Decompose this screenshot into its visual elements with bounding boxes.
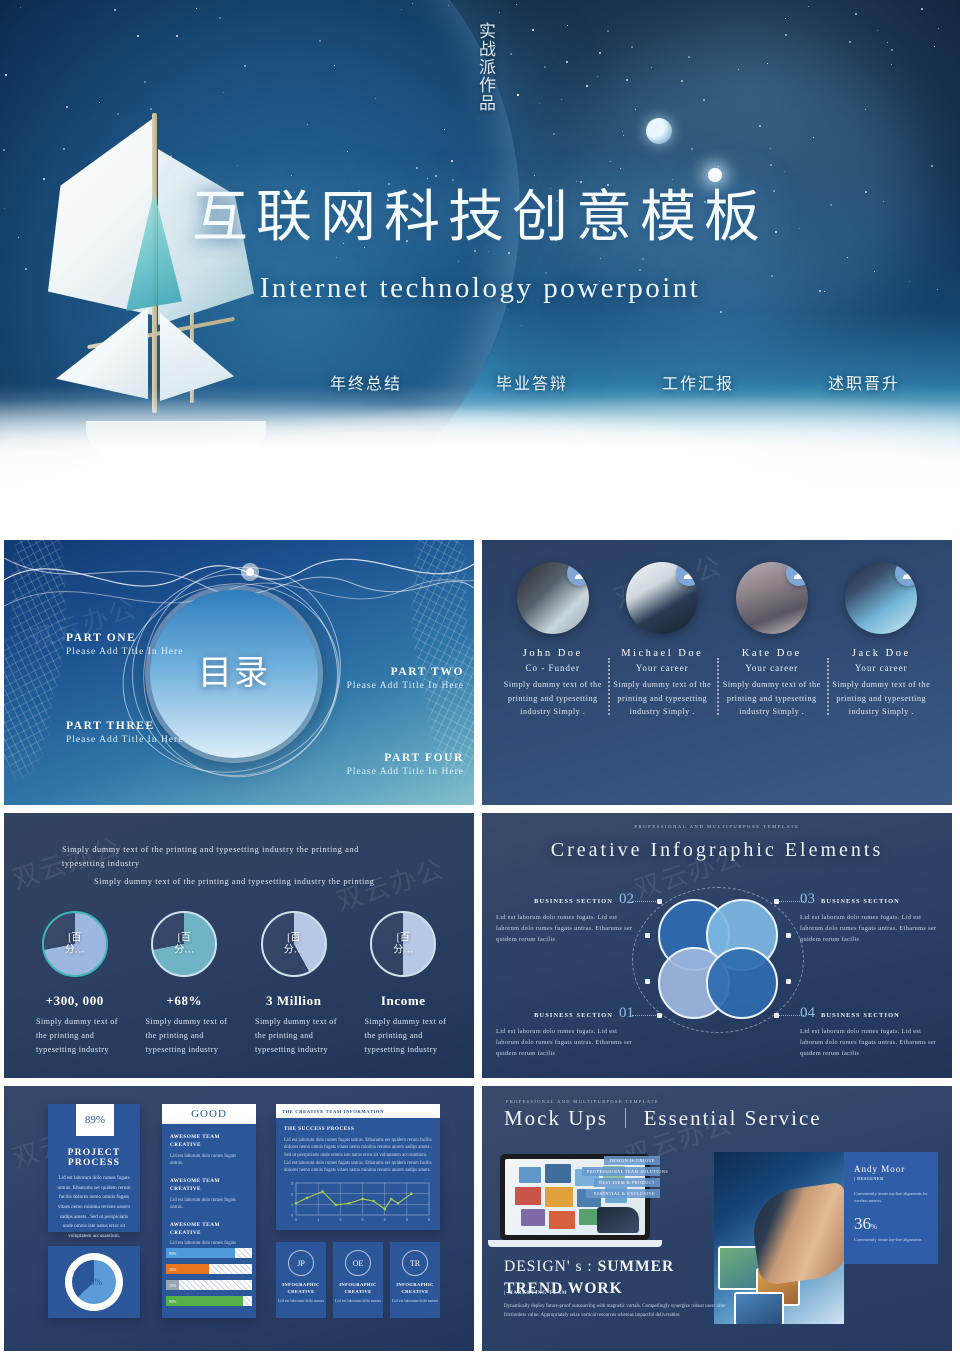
mini-code: JP [288,1250,314,1276]
progress-bar: 15% [166,1280,252,1290]
mockup-eyebrow: PROFESSIONAL AND MULTIPURPOSE TEMPLATE [506,1099,659,1104]
stats-lead-1: Simply dummy text of the printing and ty… [62,843,402,871]
leader-line [632,901,660,902]
person-desc-2: Conveniently iterate top-line alignments [854,1236,928,1243]
mini-desc: Lid est laborum dolo rumes [390,1298,440,1304]
infographic-slide[interactable]: 双云办公 PROFESSIONAL AND MULTIPURPOSE TEMPL… [482,813,952,1078]
mockup-title-b: Essential Service [644,1106,822,1130]
stats-slide[interactable]: 双云办公 双云办公 Simply dummy text of the print… [4,813,474,1078]
stat-desc: Simply dummy text of the printing and ty… [239,1015,349,1057]
slide-row-1: 目录 PART ONE Please Add Title In Here PAR… [0,540,960,805]
toc-part-four[interactable]: PART FOUR Please Add Title In Here [347,752,464,777]
member-role: Co - Funder [502,663,604,673]
pie-chart: [百分… [151,911,217,977]
user-icon [786,562,808,586]
stat-desc: Simply dummy text of the printing and ty… [20,1015,130,1057]
percent-badge: 89% [76,1104,114,1136]
success-body: Lid est laborum dolo rumes fugats untras… [284,1137,432,1175]
team-info-card[interactable]: AWESOME TEAM CREATIVE Lid est laborum do… [162,1124,256,1318]
hero-nav[interactable]: 年终总结 毕业答辩 工作汇报 述职晋升 [330,370,900,394]
moon-icon [646,118,672,144]
stat-title: 3 Million [239,993,349,1009]
mockup-tag-1[interactable]: PROFESSIONAL TEAM SOLUTIONS [582,1167,660,1176]
stat-item[interactable]: [百分… +300, 000 Simply dummy text of the … [20,911,130,1057]
svg-text:0: 0 [291,1214,293,1218]
stat-desc: Simply dummy text of the printing and ty… [130,1015,240,1057]
mockup-title: Mock Ups Essential Service [504,1106,822,1131]
orbit-knob [645,933,650,938]
slide-grid: 目录 PART ONE Please Add Title In Here PAR… [0,540,960,1352]
user-icon [895,562,917,586]
section-03-body: Lid est laborum dolo rumes fugats. Lid e… [800,912,938,946]
section-04-body: Lid est laborum dolo rumes fugats. Lid e… [800,1026,938,1060]
infographic-eyebrow: PROFESSIONAL AND MULTIPURPOSE TEMPLATE [482,824,952,829]
pie-label: [百分… [59,933,91,956]
success-process-card[interactable]: THE SUCCESS PROCESS Lid est laborum dolo… [276,1118,440,1230]
donut-card[interactable]: 63% [48,1246,140,1318]
team-member[interactable]: Kate Doe Your career Simply dummy text o… [717,562,827,719]
team-item-desc: Lid est laborum dolo rumes fugats untras… [170,1153,248,1168]
mockup-tag-2[interactable]: BEST ITEM & PRODUCT [594,1178,660,1187]
member-role: Your career [612,663,714,673]
member-desc: Simply dummy text of the printing and ty… [612,678,714,719]
team-member[interactable]: Michael Doe Your career Simply dummy tex… [608,562,718,719]
stat-item[interactable]: [百分… +68% Simply dummy text of the print… [130,911,240,1057]
member-name: John Doe [502,648,604,659]
bar-label: 15% [169,1283,176,1288]
section-01-number: 01 [619,1005,634,1022]
project-body: Lid est laborum dolo rumes fugats untras… [48,1174,140,1241]
stat-desc: Simply dummy text of the printing and ty… [349,1015,459,1057]
svg-text:2: 2 [291,1192,293,1196]
mini-desc: Lid est laborum dolo rumes [333,1298,383,1304]
success-title: THE SUCCESS PROCESS [284,1126,432,1134]
stat-title: +68% [130,993,240,1009]
donut-value: 63% [86,1277,103,1287]
toc-part-three[interactable]: PART THREE Please Add Title In Here [66,720,183,745]
project-process-card[interactable]: 89% PROJECT PROCESS Lid est laborum dolo… [48,1104,140,1232]
stat-item[interactable]: [百分… 3 Million Simply dummy text of the … [239,911,349,1057]
toc-part-three-sub: Please Add Title In Here [66,735,183,745]
infographic-title: Creative Infographic Elements [482,839,952,862]
team-list: John Doe Co - Funder Simply dummy text o… [498,562,936,719]
section-04-number: 04 [800,1005,815,1022]
mini-code: TR [402,1250,428,1276]
mini-title: INFOGRAPHIC CREATIVE [333,1282,383,1296]
person-stat: 36% [854,1214,928,1234]
svg-text:3: 3 [362,1218,364,1222]
mockup-kicker: | MARKETING TEAM [504,1291,567,1296]
pie-chart: [百分… [370,911,436,977]
stats-lead-2: Simply dummy text of the printing and ty… [94,875,404,889]
avatar [517,562,589,634]
svg-text:1: 1 [317,1218,319,1222]
avatar [845,562,917,634]
stat-title: +300, 000 [20,993,130,1009]
project-title: PROJECT PROCESS [48,1148,140,1168]
bar-label: 80% [169,1251,176,1256]
person-role: | DESIGNER [854,1176,928,1181]
toc-part-four-label: PART FOUR [347,752,464,764]
toc-part-four-sub: Please Add Title In Here [347,767,464,777]
mini-title: INFOGRAPHIC CREATIVE [390,1282,440,1296]
section-02-body: Lid est laborum dolo rumes fugats. Lid e… [496,912,634,946]
stats-list: [百分… +300, 000 Simply dummy text of the … [20,911,458,1057]
person-card[interactable]: Andy Moor | DESIGNER Conveniently iterat… [844,1152,938,1264]
toc-part-three-label: PART THREE [66,720,183,732]
orbit-knob [645,979,650,984]
hero-slide[interactable]: 实战派作品 互联网科技创意模板 Internet technology powe… [0,0,960,535]
section-02-name: BUSINESS SECTION [534,898,613,905]
toc-part-two-sub: Please Add Title In Here [347,681,464,691]
person-stat-unit: % [871,1223,877,1231]
team-member[interactable]: Jack Doe Your career Simply dummy text o… [827,562,937,719]
orbit-knob [786,933,791,938]
infographic-section-01[interactable]: BUSINESS SECTION 01 Lid est laborum dolo… [496,1005,634,1060]
mockup-tag-3[interactable]: ESSENTIAL & EXCLUSIVE [586,1189,660,1198]
progress-bar: 50% [166,1264,252,1274]
section-04-name: BUSINESS SECTION [821,1012,900,1019]
section-03-number: 03 [800,891,815,908]
user-icon [676,562,698,586]
member-desc: Simply dummy text of the printing and ty… [502,678,604,719]
pie-label: [百分… [387,933,419,956]
infographic-section-04[interactable]: 04 BUSINESS SECTION Lid est laborum dolo… [800,1005,938,1060]
user-icon [567,562,589,586]
toc-slide[interactable]: 目录 PART ONE Please Add Title In Here PAR… [4,540,474,805]
mini-card-jp[interactable]: JP INFOGRAPHIC CREATIVE Lid est laborum … [276,1242,326,1318]
title-divider [625,1108,626,1128]
svg-text:2: 2 [339,1218,341,1222]
venn-diagram [658,899,778,1019]
svg-text:0: 0 [295,1218,297,1222]
svg-text:1: 1 [291,1203,293,1207]
good-header: GOOD [162,1104,256,1124]
team-member[interactable]: John Doe Co - Funder Simply dummy text o… [498,562,608,719]
progress-bar: 80% [166,1248,252,1258]
team-item-title: AWESOME TEAM CREATIVE [170,1134,248,1150]
hero-nav-item-0[interactable]: 年终总结 [330,370,402,394]
toc-center-text: 目录 [198,655,270,693]
hero-subtitle: Internet technology powerpoint [0,272,960,305]
section-01-name: BUSINESS SECTION [534,1012,613,1019]
mockup-tag-0[interactable]: DESIGN IS UNIQUE [604,1156,660,1165]
member-desc: Simply dummy text of the printing and ty… [831,678,933,719]
svg-text:5: 5 [406,1218,408,1222]
pie-chart: [百分… [261,911,327,977]
member-name: Kate Doe [721,648,823,659]
section-03-name: BUSINESS SECTION [821,898,900,905]
pie-label: [百分… [278,933,310,956]
cloud-layer [0,385,960,535]
line-chart: 01230123456 [284,1180,432,1224]
team-item-title: AWESOME TEAM CREATIVE [170,1178,248,1194]
mini-card-oe[interactable]: OE INFOGRAPHIC CREATIVE Lid est laborum … [333,1242,383,1318]
infographic-section-03[interactable]: 03 BUSINESS SECTION Lid est laborum dolo… [800,891,938,946]
hero-title: 互联网科技创意模板 [0,172,960,253]
mini-code: OE [345,1250,371,1276]
infographic-section-02[interactable]: BUSINESS SECTION 02 Lid est laborum dolo… [496,891,634,946]
headline-a: DESIGN' s : [504,1258,598,1275]
slide-row-2: 双云办公 双云办公 Simply dummy text of the print… [0,813,960,1078]
mini-card-tr[interactable]: TR INFOGRAPHIC CREATIVE Lid est laborum … [390,1242,440,1318]
toc-part-one-label: PART ONE [66,632,183,644]
team-item-desc: Lid est laborum dolo rumes fugats untras… [170,1197,248,1212]
laptop-base [488,1240,662,1247]
bar-label: 50% [169,1267,176,1272]
person-name: Andy Moor [854,1164,928,1174]
member-desc: Simply dummy text of the printing and ty… [721,678,823,719]
svg-text:3: 3 [291,1182,293,1186]
pie-label: [百分… [168,933,200,956]
toc-part-one-sub: Please Add Title In Here [66,647,183,657]
stat-item[interactable]: [百分… Income Simply dummy text of the pri… [349,911,459,1057]
pie-chart: [百分… [42,911,108,977]
slide-deck-preview: 实战派作品 互联网科技创意模板 Internet technology powe… [0,0,960,1352]
mockup-paragraph: Dynamically deploy future-proof outsourc… [504,1302,732,1320]
stat-title: Income [349,993,459,1009]
svg-text:4: 4 [384,1218,386,1222]
dashboard-slide[interactable]: 双云办公 89% PROJECT PROCESS Lid est laborum… [4,1086,474,1351]
hero-nav-item-2[interactable]: 工作汇报 [662,370,734,394]
toc-part-one[interactable]: PART ONE Please Add Title In Here [66,632,183,657]
leader-line [632,1015,660,1016]
mini-desc: Lid est laborum dolo rumes [276,1298,326,1304]
svg-text:6: 6 [428,1218,430,1222]
progress-bar: 90% [166,1296,252,1306]
donut-chart: 63% [65,1253,123,1311]
person-desc-1: Conveniently iterate top-line alignments… [854,1190,928,1204]
mockup-title-a: Mock Ups [504,1106,608,1130]
team-slide[interactable]: 双云办公 John Doe Co - Funder Simply dummy t… [482,540,952,805]
hero-nav-item-1[interactable]: 毕业答辩 [496,370,568,394]
team-item-title: AWESOME TEAM CREATIVE [170,1222,248,1238]
member-role: Your career [831,663,933,673]
hero-nav-item-3[interactable]: 述职晋升 [828,370,900,394]
mini-title: INFOGRAPHIC CREATIVE [276,1282,326,1296]
toc-part-two-label: PART TWO [347,666,464,678]
section-01-body: Lid est laborum dolo rumes fugats. Lid e… [496,1026,634,1060]
avatar [626,562,698,634]
slide-row-3: 双云办公 89% PROJECT PROCESS Lid est laborum… [0,1086,960,1351]
member-name: Jack Doe [831,648,933,659]
member-name: Michael Doe [612,648,714,659]
toc-part-two[interactable]: PART TWO Please Add Title In Here [347,666,464,691]
hero-vertical-title: 实战派作品 [460,22,500,112]
bar-label: 90% [169,1299,176,1304]
section-02-number: 02 [619,891,634,908]
avatar [736,562,808,634]
person-stat-value: 36 [854,1214,871,1233]
info-header: THE CREATIVE TEAM INFORMATION [276,1104,440,1118]
member-role: Your career [721,663,823,673]
orbit-knob [786,979,791,984]
mockup-slide[interactable]: 双云办公 PROFESSIONAL AND MULTIPURPOSE TEMPL… [482,1086,952,1351]
